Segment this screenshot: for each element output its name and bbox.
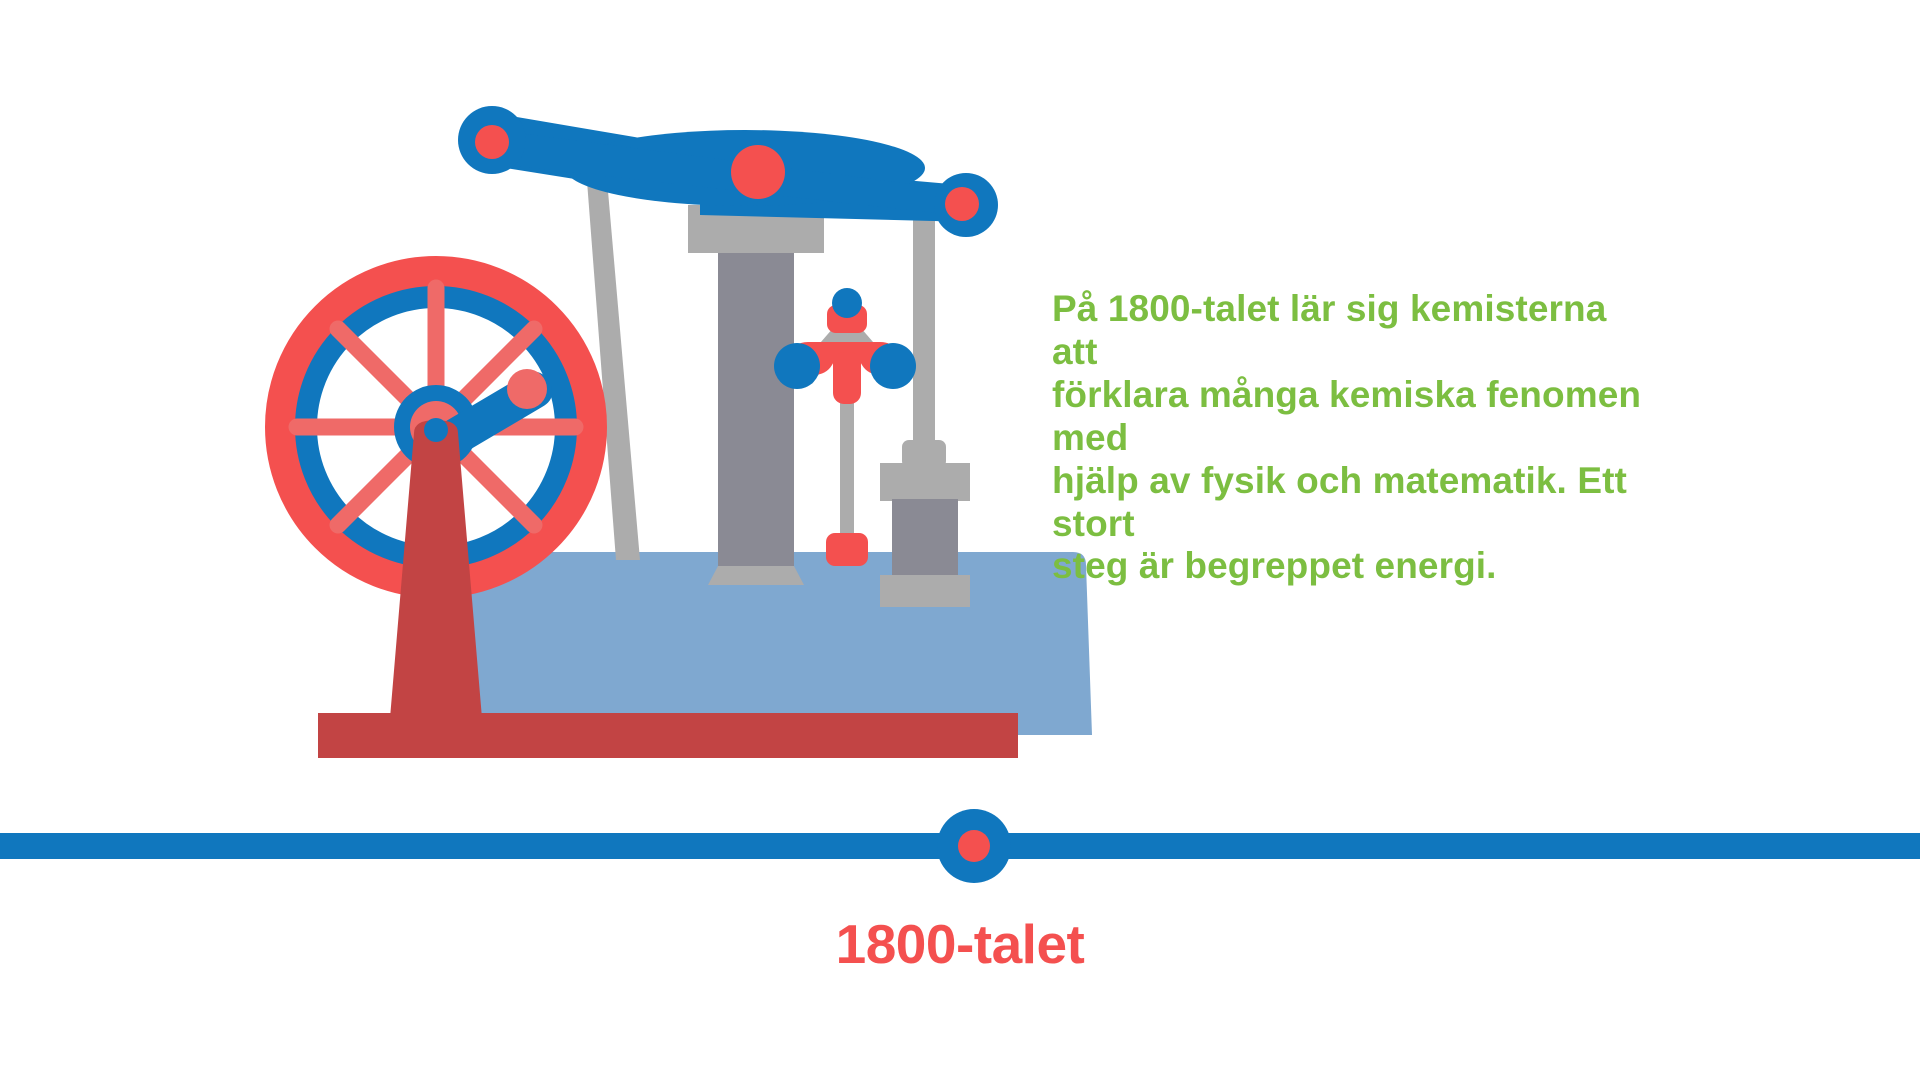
slide-root: På 1800-talet lär sig kemisterna att för… [0, 0, 1920, 1080]
cylinder-base [880, 575, 970, 607]
timeline-marker[interactable] [937, 809, 1011, 883]
right-piston-rod [913, 195, 935, 455]
governor-ball-right [870, 343, 916, 389]
cylinder-flange [880, 463, 970, 501]
crank-pin [507, 369, 547, 409]
center-column [718, 236, 794, 566]
governor-base-block [826, 533, 868, 566]
governor-collar [833, 352, 861, 404]
beam-pivot-right [945, 187, 979, 221]
steam-cylinder [892, 499, 958, 583]
column-foot [708, 566, 804, 585]
page-title: 1800-talet [0, 912, 1920, 976]
governor-top-ball [832, 288, 862, 318]
body-text: På 1800-talet lär sig kemisterna att för… [1052, 288, 1652, 588]
beam-pivot-left [475, 125, 509, 159]
timeline-marker-dot [958, 830, 990, 862]
governor-ball-left [774, 343, 820, 389]
steam-engine-illustration [0, 0, 1160, 800]
beam-pivot-center [731, 145, 785, 199]
flywheel-center-bolt [424, 418, 448, 442]
